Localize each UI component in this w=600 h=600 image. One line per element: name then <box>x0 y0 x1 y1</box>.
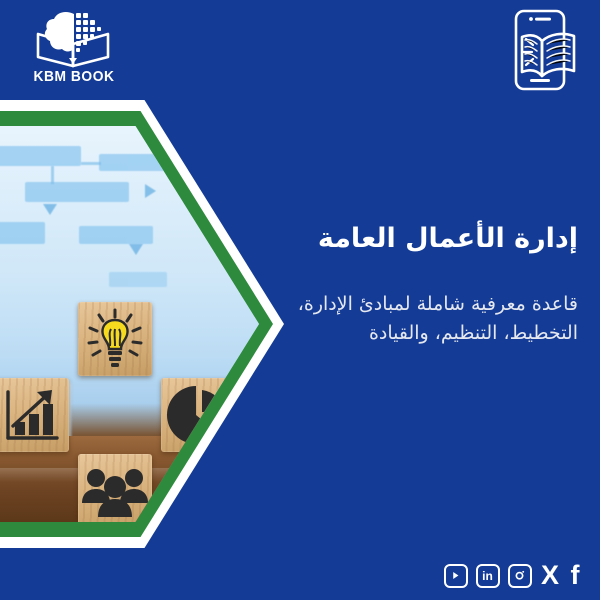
brand-logo[interactable]: KBM BOOK <box>14 6 134 98</box>
block-growth-bar-chart-icon <box>0 378 69 452</box>
hexagon-photo-frame <box>0 100 284 548</box>
social-links: in X f <box>443 563 582 588</box>
page-subtitle: قاعدة معرفية شاملة لمبادئ الإدارة، التخط… <box>288 290 578 349</box>
brand-name: KBM BOOK <box>19 68 129 85</box>
facebook-icon: f <box>571 562 580 589</box>
block-speech-bubbles-icon <box>243 454 259 522</box>
block-lightbulb-idea-icon <box>78 302 152 376</box>
youtube-icon <box>444 564 468 588</box>
social-link-youtube[interactable] <box>443 563 468 588</box>
wooden-blocks-business-icons-photo <box>0 126 259 522</box>
social-link-linkedin[interactable]: in <box>475 563 500 588</box>
page-title: إدارة الأعمال العامة <box>278 222 578 256</box>
x-twitter-icon: X <box>541 562 559 589</box>
social-link-facebook[interactable]: f <box>568 563 582 588</box>
linkedin-label: in <box>482 570 493 582</box>
linkedin-icon: in <box>476 564 500 588</box>
smartphone-open-book-icon <box>504 8 582 92</box>
social-link-instagram[interactable] <box>507 563 532 588</box>
social-link-x-twitter[interactable]: X <box>539 563 561 588</box>
brain-book-icon <box>30 8 116 70</box>
poster-canvas: KBM BOOK <box>0 0 600 600</box>
block-team-people-icon <box>78 454 152 522</box>
instagram-icon <box>508 564 532 588</box>
